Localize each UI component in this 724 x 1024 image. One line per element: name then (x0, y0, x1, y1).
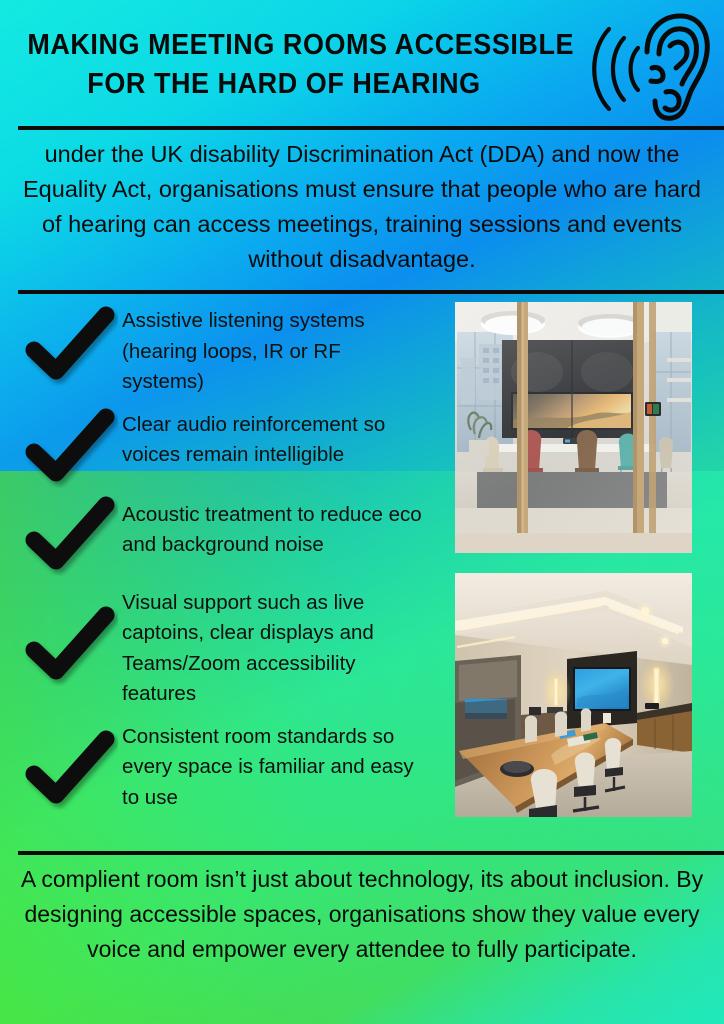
list-item-label: Visual support such as live captoins, cl… (122, 582, 422, 710)
conclusion-paragraph: A complient room isn’t just about techno… (14, 862, 710, 967)
list-item-label: Acoustic treatment to reduce eco and bac… (122, 494, 422, 561)
checkmark-icon (22, 606, 118, 686)
list-item: Visual support such as live captoins, cl… (22, 582, 442, 710)
divider-above-conclusion (18, 851, 724, 855)
ear-hearing-icon (584, 8, 712, 124)
list-item: Acoustic treatment to reduce eco and bac… (22, 494, 442, 576)
list-item: Assistive listening systems (hearing loo… (22, 300, 442, 398)
checkmark-icon (22, 306, 118, 386)
infographic-poster: MAKING MEETING ROOMS ACCESSIBLE FOR THE … (0, 0, 724, 1024)
poster-header: MAKING MEETING ROOMS ACCESSIBLE FOR THE … (0, 0, 724, 128)
photo-boardroom-blue (455, 573, 692, 817)
checkmark-icon (22, 496, 118, 576)
title-line-1: MAKING MEETING ROOMS ACCESSIBLE (27, 26, 540, 65)
intro-paragraph: under the UK disability Discrimination A… (14, 137, 710, 277)
list-item: Consistent room standards so every space… (22, 716, 442, 814)
list-item-label: Assistive listening systems (hearing loo… (122, 300, 422, 398)
divider-under-title (18, 126, 724, 130)
checkmark-icon (22, 730, 118, 810)
photo-boardroom-glass (455, 302, 692, 553)
page-title: MAKING MEETING ROOMS ACCESSIBLE FOR THE … (8, 26, 560, 104)
list-item-label: Clear audio reinforcement so voices rema… (122, 404, 422, 471)
checkmark-icon (22, 408, 118, 488)
list-item-label: Consistent room standards so every space… (122, 716, 422, 814)
checklist: Assistive listening systems (hearing loo… (22, 300, 442, 819)
list-item: Clear audio reinforcement so voices rema… (22, 404, 442, 488)
title-line-2: FOR THE HARD OF HEARING (27, 65, 540, 104)
divider-above-checklist (18, 290, 724, 294)
